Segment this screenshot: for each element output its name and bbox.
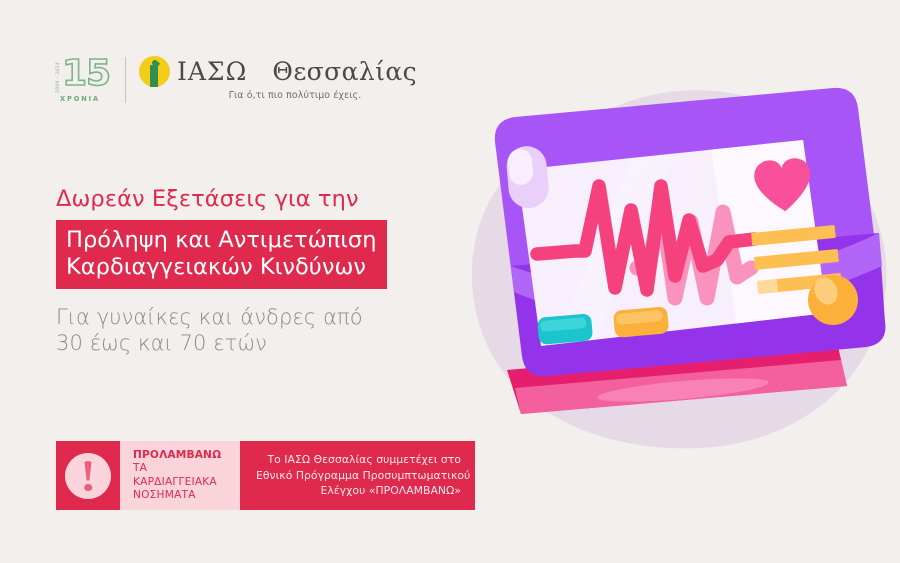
program-badge: ΠΡΟΛΑΜΒΑΝΩ ΤΑ ΚΑΡΔΙΑΓΓΕΙΑΚΑ ΝΟΣΗΜΑΤΑ Το … xyxy=(56,441,475,510)
badge-program-name: ΠΡΟΛΑΜΒΑΝΩ ΤΑ ΚΑΡΔΙΑΓΓΕΙΑΚΑ ΝΟΣΗΜΑΤΑ xyxy=(120,441,240,510)
subheadline-line1: Για γυναίκες και άνδρες από xyxy=(56,304,476,330)
ecg-heart-monitor-illustration xyxy=(455,70,900,460)
promo-banner: 2009 · 2024 15 ΧΡΟΝΙΑ ΙΑΣΩ Θεσσαλίας Γι xyxy=(0,0,900,563)
logo-divider xyxy=(125,57,126,103)
brand-tagline: Για ό,τι πιο πολύτιμο έχεις. xyxy=(139,90,417,101)
brand-wordmark-part2: Θεσσαλίας xyxy=(272,57,417,86)
badge-note-line3: Ελέγχου «ΠΡΟΛΑΜΒΑΝΩ» xyxy=(256,483,461,499)
subheadline-line2: 30 έως και 70 ετών xyxy=(56,330,476,356)
badge-note-line1: Το ΙΑΣΩ Θεσσαλίας συμμετέχει στο xyxy=(256,452,461,468)
badge-program-line2: ΤΑ xyxy=(133,462,228,475)
iaso-logo-row: ΙΑΣΩ Θεσσαλίας xyxy=(139,56,417,87)
badge-note: Το ΙΑΣΩ Θεσσαλίας συμμετέχει στο Εθνικό … xyxy=(240,441,475,510)
headline-highlight: Πρόληψη και Αντιμετώπιση Καρδιαγγειακών … xyxy=(56,220,387,289)
headline-highlight-line1: Πρόληψη και Αντιμετώπιση xyxy=(66,227,377,254)
anniversary-15-years-logo: 2009 · 2024 15 ΧΡΟΝΙΑ xyxy=(55,56,113,114)
brand-wordmark: ΙΑΣΩ Θεσσαλίας xyxy=(177,58,417,85)
badge-note-line2: Εθνικό Πρόγραμμα Προσυμπτωματικού xyxy=(256,468,461,484)
anniversary-years: 2009 · 2024 xyxy=(56,62,60,93)
iaso-logo: ΙΑΣΩ Θεσσαλίας Για ό,τι πιο πολύτιμο έχε… xyxy=(139,56,417,101)
brand-wordmark-part1: ΙΑΣΩ xyxy=(177,57,247,86)
anniversary-number: 15 xyxy=(62,56,110,92)
iaso-figure-icon xyxy=(139,56,170,87)
subheadline: Για γυναίκες και άνδρες από 30 έως και 7… xyxy=(56,304,476,356)
headline-highlight-line2: Καρδιαγγειακών Κινδύνων xyxy=(66,254,377,281)
badge-program-line3: ΚΑΡΔΙΑΓΓΕΙΑΚΑ xyxy=(133,476,228,489)
exclamation-mark-icon xyxy=(65,453,111,499)
badge-program-line1: ΠΡΟΛΑΜΒΑΝΩ xyxy=(133,449,228,462)
badge-icon-block xyxy=(56,441,120,510)
brand-logo-block: 2009 · 2024 15 ΧΡΟΝΙΑ ΙΑΣΩ Θεσσαλίας Γι xyxy=(55,56,417,114)
headline-block: Δωρεάν Εξετάσεις για την Πρόληψη και Αντ… xyxy=(56,186,476,356)
headline-kicker: Δωρεάν Εξετάσεις για την xyxy=(56,186,476,212)
anniversary-caption: ΧΡΟΝΙΑ xyxy=(60,95,100,103)
brand-wordmark-space xyxy=(256,57,264,86)
badge-program-line4: ΝΟΣΗΜΑΤΑ xyxy=(133,489,228,502)
